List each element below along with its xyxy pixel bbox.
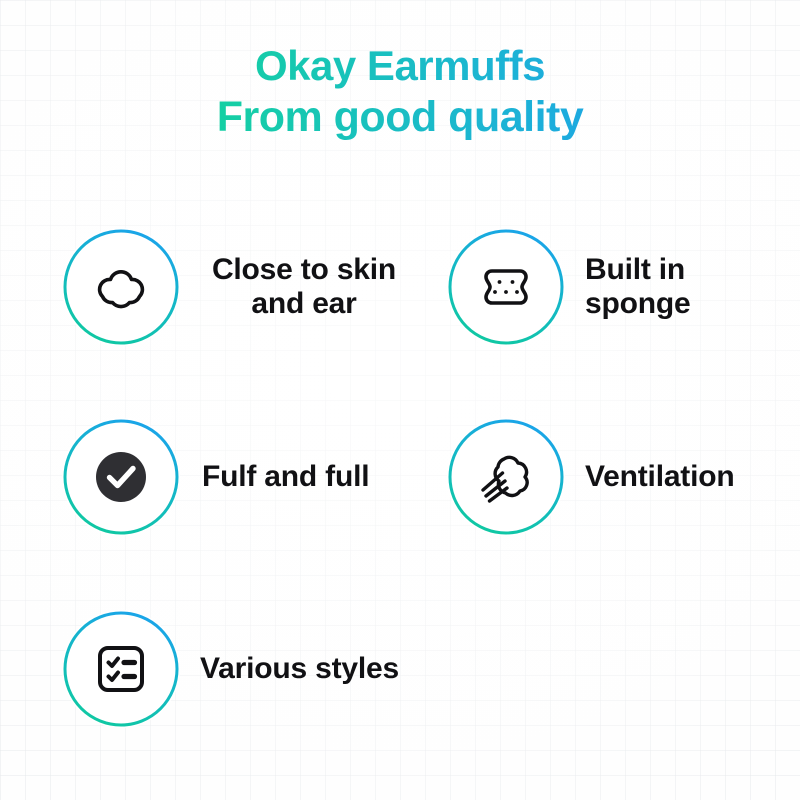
feature-label-ventilation: Ventilation xyxy=(585,460,735,494)
icon-badge-fulf-and-full xyxy=(62,418,180,536)
cloud-icon xyxy=(89,255,153,319)
feature-label-close-to-skin: Close to skin and ear xyxy=(194,253,414,320)
infographic-page: Okay Earmuffs From good quality xyxy=(0,0,800,800)
feature-item-ventilation[interactable]: Ventilation xyxy=(447,418,735,536)
icon-badge-built-in-sponge xyxy=(447,228,565,346)
headline-line-1: Okay Earmuffs xyxy=(0,42,800,89)
feature-item-close-to-skin[interactable]: Close to skin and ear xyxy=(62,228,414,346)
feature-label-fulf-and-full: Fulf and full xyxy=(202,460,369,494)
feature-item-various-styles[interactable]: Various styles xyxy=(62,610,399,728)
check-circle-icon xyxy=(89,445,153,509)
feature-label-built-in-sponge: Built in sponge xyxy=(585,253,775,320)
icon-badge-close-to-skin xyxy=(62,228,180,346)
sponge-icon xyxy=(474,255,538,319)
feature-label-various-styles: Various styles xyxy=(200,652,399,686)
feature-item-fulf-and-full[interactable]: Fulf and full xyxy=(62,418,369,536)
wind-cloud-icon xyxy=(474,445,538,509)
checklist-icon xyxy=(89,637,153,701)
feature-item-built-in-sponge[interactable]: Built in sponge xyxy=(447,228,775,346)
headline-block: Okay Earmuffs From good quality xyxy=(0,42,800,141)
icon-badge-various-styles xyxy=(62,610,180,728)
icon-badge-ventilation xyxy=(447,418,565,536)
feature-list: Close to skin and ear xyxy=(0,228,800,768)
headline-line-2: From good quality xyxy=(0,93,800,141)
